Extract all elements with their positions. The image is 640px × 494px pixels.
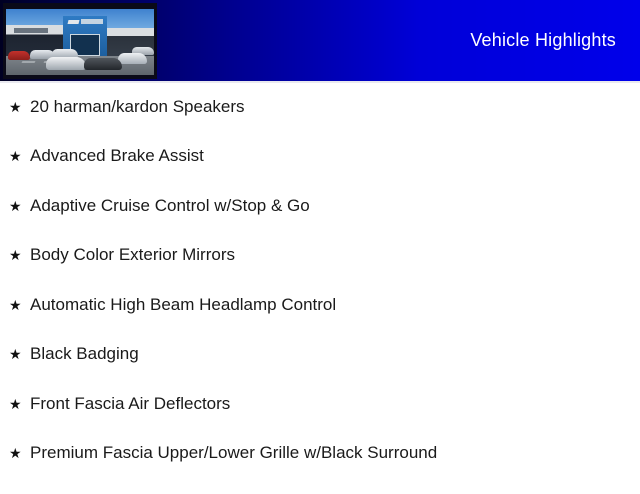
list-item: ★ Automatic High Beam Headlamp Control (0, 296, 640, 346)
list-item: ★ Body Color Exterior Mirrors (0, 246, 640, 296)
star-bullet-icon: ★ (9, 197, 30, 215)
parked-car (46, 57, 86, 70)
list-item-label: Advanced Brake Assist (30, 147, 204, 165)
chevrolet-wordmark (81, 19, 103, 24)
list-item: ★ Adaptive Cruise Control w/Stop & Go (0, 197, 640, 247)
list-item: ★ Premium Fascia Upper/Lower Grille w/Bl… (0, 444, 640, 494)
list-item-label: 20 harman/kardon Speakers (30, 98, 245, 116)
list-item: ★ 20 harman/kardon Speakers (0, 81, 640, 147)
list-item: ★ Front Fascia Air Deflectors (0, 395, 640, 445)
parked-car (8, 51, 30, 60)
list-item-label: Automatic High Beam Headlamp Control (30, 296, 336, 314)
list-item-label: Black Badging (30, 345, 139, 363)
star-bullet-icon: ★ (9, 444, 30, 462)
star-bullet-icon: ★ (9, 296, 30, 314)
page-title: Vehicle Highlights (470, 29, 616, 51)
vehicle-highlights-list: ★ 20 harman/kardon Speakers ★ Advanced B… (0, 81, 640, 494)
list-item-label: Premium Fascia Upper/Lower Grille w/Blac… (30, 444, 437, 462)
list-item: ★ Black Badging (0, 345, 640, 395)
star-bullet-icon: ★ (9, 345, 30, 363)
page-header: Vehicle Highlights (0, 0, 640, 81)
list-item-label: Adaptive Cruise Control w/Stop & Go (30, 197, 310, 215)
list-item-label: Front Fascia Air Deflectors (30, 395, 230, 413)
list-item: ★ Advanced Brake Assist (0, 147, 640, 197)
list-item-label: Body Color Exterior Mirrors (30, 246, 235, 264)
star-bullet-icon: ★ (9, 395, 30, 413)
parked-car (118, 53, 147, 64)
parked-car (84, 58, 122, 70)
lot-stripe (22, 61, 36, 63)
star-bullet-icon: ★ (9, 98, 30, 116)
dealership-photo (3, 3, 157, 79)
star-bullet-icon: ★ (9, 147, 30, 165)
dealer-name-sign (14, 28, 48, 33)
dealership-photo-content (6, 9, 154, 75)
star-bullet-icon: ★ (9, 246, 30, 264)
chevrolet-bowtie-icon (68, 20, 80, 24)
